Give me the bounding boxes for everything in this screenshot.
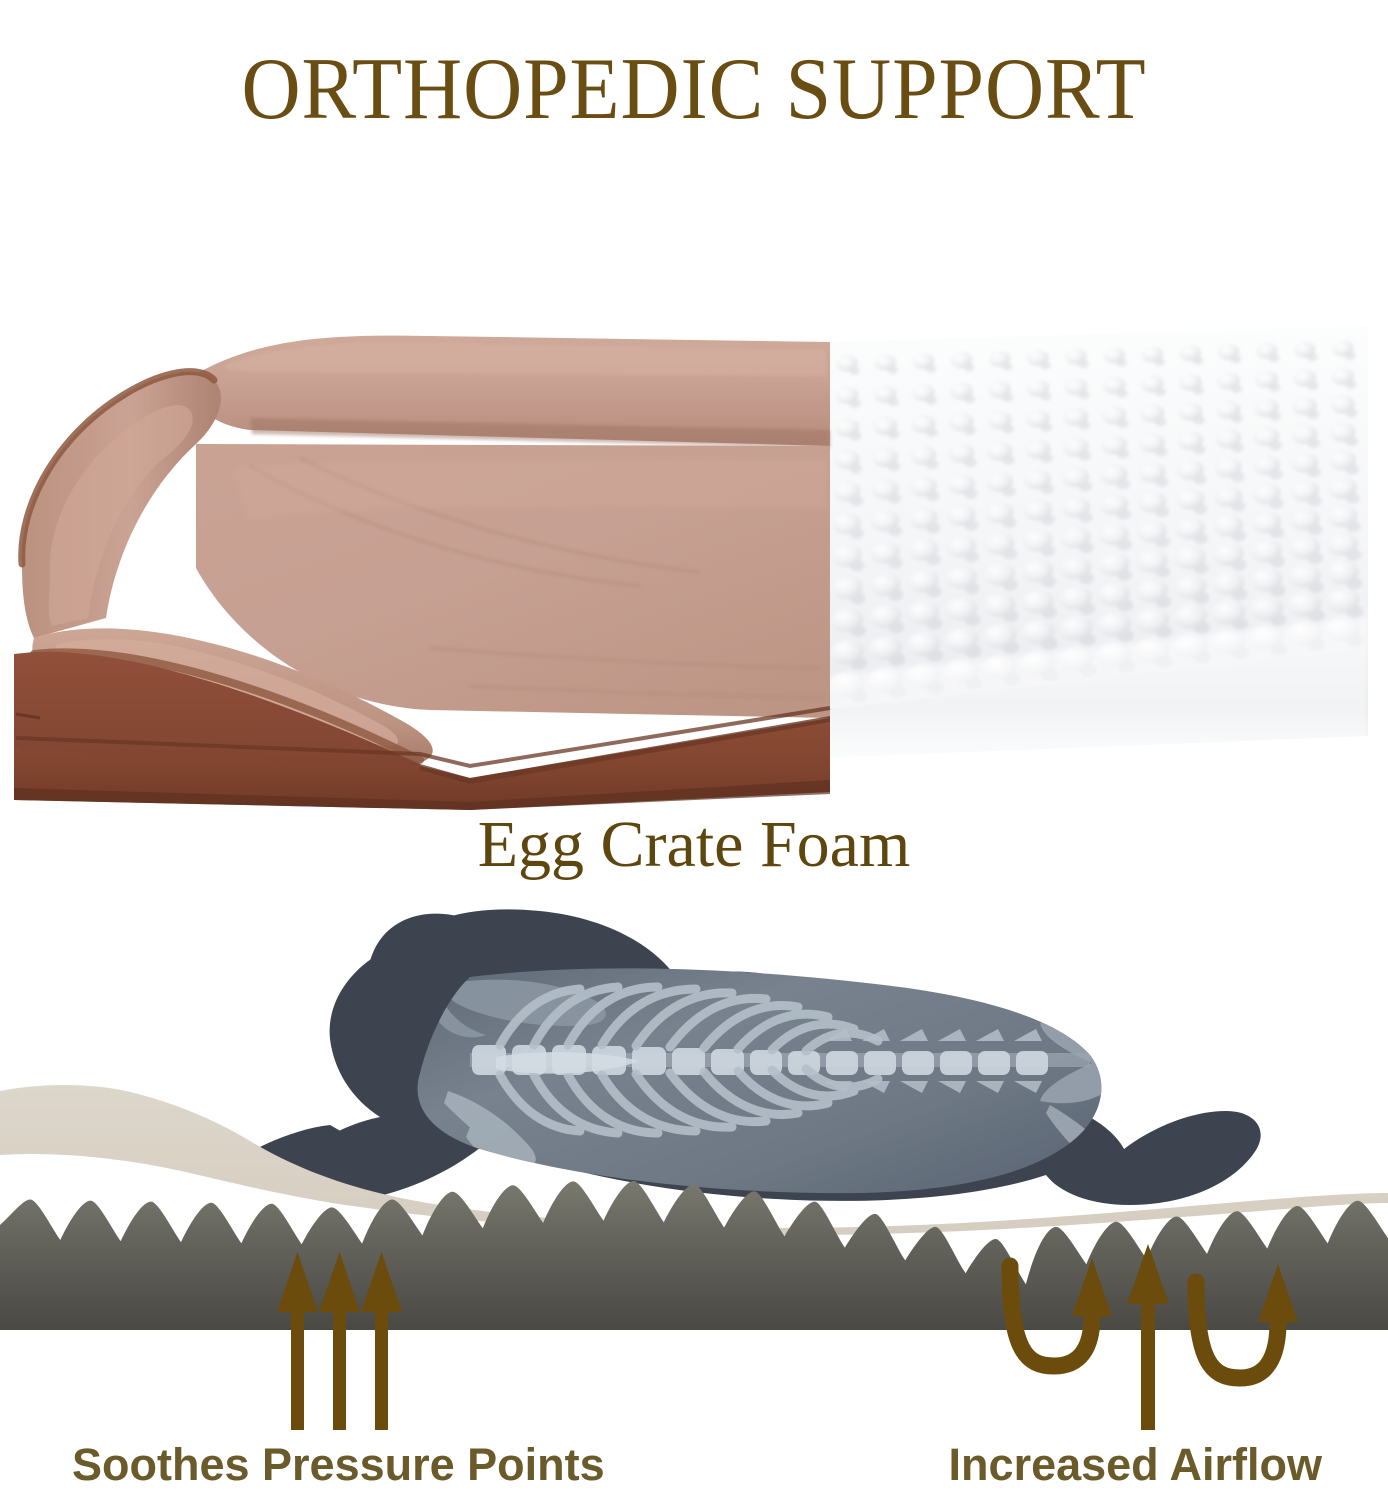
airflow-arrow-u-right <box>1196 1264 1298 1378</box>
pressure-arrow-2 <box>319 1252 360 1430</box>
airflow-arrow-u-left <box>1010 1258 1112 1366</box>
orthopedic-dog-bed <box>14 336 830 810</box>
page-title: ORTHOPEDIC SUPPORT <box>49 46 1340 134</box>
pressure-arrows-group <box>277 1252 402 1430</box>
increased-airflow-label: Increased Airflow <box>949 1442 1322 1487</box>
egg-crate-foam-caption: Egg Crate Foam <box>0 812 1388 878</box>
airflow-arrows-group <box>1010 1244 1298 1430</box>
product-photo-bed-with-foam: BEDFOLKS <box>0 318 1388 810</box>
dog-silhouette <box>203 909 1260 1215</box>
airflow-arrow-center <box>1127 1244 1169 1430</box>
pressure-arrow-1 <box>277 1252 318 1430</box>
soothes-pressure-points-label: Soothes Pressure Points <box>72 1442 605 1487</box>
callout-arrows <box>0 1230 1388 1440</box>
pressure-arrow-3 <box>361 1252 402 1430</box>
egg-crate-foam-slab <box>820 326 1368 778</box>
arrows-svg <box>0 1230 1388 1440</box>
bed-illustration <box>0 318 1388 810</box>
head-support-wedge <box>0 1085 203 1164</box>
infographic-root: ORTHOPEDIC SUPPORT <box>0 0 1388 1500</box>
